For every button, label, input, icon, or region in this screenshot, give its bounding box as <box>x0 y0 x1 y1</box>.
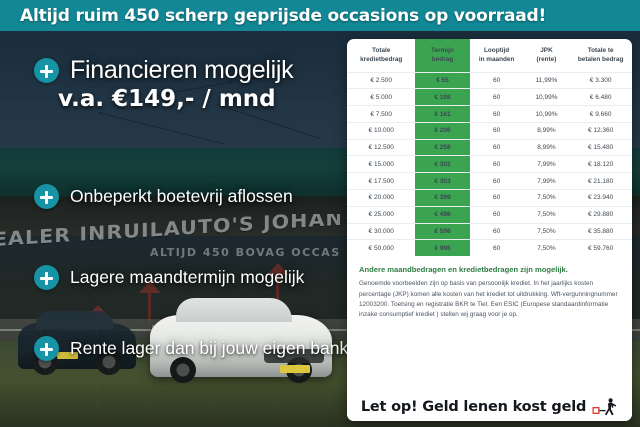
rates-cell: € 598 <box>415 223 469 240</box>
rates-cell: € 12.360 <box>569 122 632 139</box>
rates-cell: € 161 <box>415 106 469 123</box>
rates-cell: € 29.880 <box>569 206 632 223</box>
rates-cell: € 206 <box>415 122 469 139</box>
rates-column-header: Looptijdin maanden <box>470 39 524 72</box>
rates-cell: 60 <box>470 72 524 89</box>
rates-cell: 60 <box>470 223 524 240</box>
rates-table: TotalekredietbedragTermijnbedragLooptijd… <box>347 39 632 256</box>
rates-table-body: € 2.500€ 556011,99%€ 3.300€ 5.000€ 10860… <box>347 72 632 256</box>
rates-column-header-line2: in maanden <box>471 55 523 64</box>
table-row: € 10.000€ 206608,99%€ 12.360 <box>347 122 632 139</box>
rates-cell: € 20.000 <box>347 190 415 207</box>
rates-cell: 60 <box>470 156 524 173</box>
rates-cell: € 302 <box>415 156 469 173</box>
table-row: € 12.500€ 258608,99%€ 15.480 <box>347 139 632 156</box>
rates-cell: € 7.500 <box>347 106 415 123</box>
rates-cell: 7,50% <box>524 223 570 240</box>
rates-cell: € 498 <box>415 206 469 223</box>
rates-column-header: JPK(rente) <box>524 39 570 72</box>
rates-cell: € 35.880 <box>569 223 632 240</box>
rates-column-header-line2: betalen bedrag <box>570 55 631 64</box>
rates-cell: € 9.660 <box>569 106 632 123</box>
rates-column-header-line2: bedrag <box>416 55 468 64</box>
rates-cell: € 399 <box>415 190 469 207</box>
rates-cell: € 30.000 <box>347 223 415 240</box>
benefit-label: Financieren mogelijk <box>70 56 293 85</box>
plus-circle-icon <box>34 336 59 361</box>
financing-subheadline: v.a. €149,- / mnd <box>58 86 276 112</box>
table-row: € 7.500€ 1616010,99%€ 9.660 <box>347 106 632 123</box>
rates-column-header: Totalekredietbedrag <box>347 39 415 72</box>
table-row: € 50.000€ 996607,50%€ 59.760 <box>347 240 632 256</box>
rates-cell: € 12.500 <box>347 139 415 156</box>
rates-cell: € 17.500 <box>347 173 415 190</box>
ball-and-chain-walking-figure-icon <box>592 398 618 416</box>
rates-cell: 8,99% <box>524 122 570 139</box>
banner-header: Altijd ruim 450 scherp geprijsde occasio… <box>0 0 640 31</box>
header-title: Altijd ruim 450 scherp geprijsde occasio… <box>20 6 546 26</box>
benefit-label: Onbeperkt boetevrij aflossen <box>70 186 293 207</box>
rates-cell: 7,50% <box>524 206 570 223</box>
rates-cell: 60 <box>470 240 524 256</box>
rates-column-header-line2: (rente) <box>525 55 569 64</box>
rates-cell: € 258 <box>415 139 469 156</box>
rates-cell: 60 <box>470 173 524 190</box>
rates-cell: € 2.500 <box>347 72 415 89</box>
benefit-label: Lagere maandtermijn mogelijk <box>70 267 304 288</box>
rates-cell: 7,99% <box>524 173 570 190</box>
rates-cell: € 5.000 <box>347 89 415 106</box>
rates-cell: € 10.000 <box>347 122 415 139</box>
rates-column-header-line1: JPK <box>525 46 569 55</box>
rates-cell: € 15.000 <box>347 156 415 173</box>
rates-cell: 60 <box>470 190 524 207</box>
table-row: € 30.000€ 598607,50%€ 35.880 <box>347 223 632 240</box>
benefit-item-boetevrij-aflossen: Onbeperkt boetevrij aflossen <box>34 184 293 209</box>
rates-column-header-line1: Termijn <box>416 46 468 55</box>
loan-warning-text: Let op! Geld lenen kost geld <box>361 399 586 415</box>
rates-cell: € 23.940 <box>569 190 632 207</box>
rates-cell: € 15.480 <box>569 139 632 156</box>
rates-cell: 60 <box>470 206 524 223</box>
rates-cell: € 3.300 <box>569 72 632 89</box>
benefit-item-lagere-maandtermijn: Lagere maandtermijn mogelijk <box>34 265 304 290</box>
table-row: € 20.000€ 399607,50%€ 23.940 <box>347 190 632 207</box>
note-body: Genoemde voorbeelden zijn op basis van p… <box>359 279 620 321</box>
rates-cell: 60 <box>470 106 524 123</box>
rates-cell: 60 <box>470 89 524 106</box>
rates-header-row: TotalekredietbedragTermijnbedragLooptijd… <box>347 39 632 72</box>
rates-cell: 60 <box>470 122 524 139</box>
rates-cell: 8,99% <box>524 139 570 156</box>
rates-cell: € 108 <box>415 89 469 106</box>
rates-cell: 7,50% <box>524 240 570 256</box>
rates-cell: € 996 <box>415 240 469 256</box>
promo-banner: DEALER INRUILAUTO'S JOHAN MEURE ALTIJD 4… <box>0 0 640 427</box>
rates-column-header-line1: Looptijd <box>471 46 523 55</box>
table-row: € 15.000€ 302607,99%€ 18.120 <box>347 156 632 173</box>
table-row: € 2.500€ 556011,99%€ 3.300 <box>347 72 632 89</box>
rates-note: Andere maandbedragen en kredietbedragen … <box>347 256 632 323</box>
rates-cell: € 18.120 <box>569 156 632 173</box>
rates-cell: 60 <box>470 139 524 156</box>
rates-cell: € 59.760 <box>569 240 632 256</box>
rates-table-head: TotalekredietbedragTermijnbedragLooptijd… <box>347 39 632 72</box>
benefits-column: Financieren mogelijk v.a. €149,- / mnd O… <box>0 31 345 427</box>
rates-cell: 7,50% <box>524 190 570 207</box>
plus-circle-icon <box>34 265 59 290</box>
benefit-label: Rente lager dan bij jouw eigen bank <box>70 338 348 359</box>
benefit-item-rente-lager: Rente lager dan bij jouw eigen bank <box>34 336 348 361</box>
rates-cell: € 353 <box>415 173 469 190</box>
table-row: € 17.500€ 353607,99%€ 21.180 <box>347 173 632 190</box>
rates-cell: 10,99% <box>524 89 570 106</box>
loan-warning-bar: Let op! Geld lenen kost geld <box>347 393 632 421</box>
table-row: € 5.000€ 1086010,99%€ 6.480 <box>347 89 632 106</box>
rates-column-header-line1: Totale te <box>570 46 631 55</box>
plus-circle-icon <box>34 184 59 209</box>
rates-column-header: Termijnbedrag <box>415 39 469 72</box>
rates-column-header: Totale tebetalen bedrag <box>569 39 632 72</box>
rates-cell: 10,99% <box>524 106 570 123</box>
rates-cell: 11,99% <box>524 72 570 89</box>
note-heading: Andere maandbedragen en kredietbedragen … <box>359 265 620 274</box>
plus-circle-icon <box>34 58 59 83</box>
rates-cell: € 6.480 <box>569 89 632 106</box>
rates-column-header-line2: kredietbedrag <box>348 55 414 64</box>
table-row: € 25.000€ 498607,50%€ 29.880 <box>347 206 632 223</box>
rates-cell: € 50.000 <box>347 240 415 256</box>
rates-cell: € 25.000 <box>347 206 415 223</box>
rates-cell: 7,99% <box>524 156 570 173</box>
rates-card: TotalekredietbedragTermijnbedragLooptijd… <box>347 39 632 421</box>
rates-cell: € 21.180 <box>569 173 632 190</box>
benefit-item-financieren: Financieren mogelijk <box>34 56 293 85</box>
rates-cell: € 55 <box>415 72 469 89</box>
rates-column-header-line1: Totale <box>348 46 414 55</box>
